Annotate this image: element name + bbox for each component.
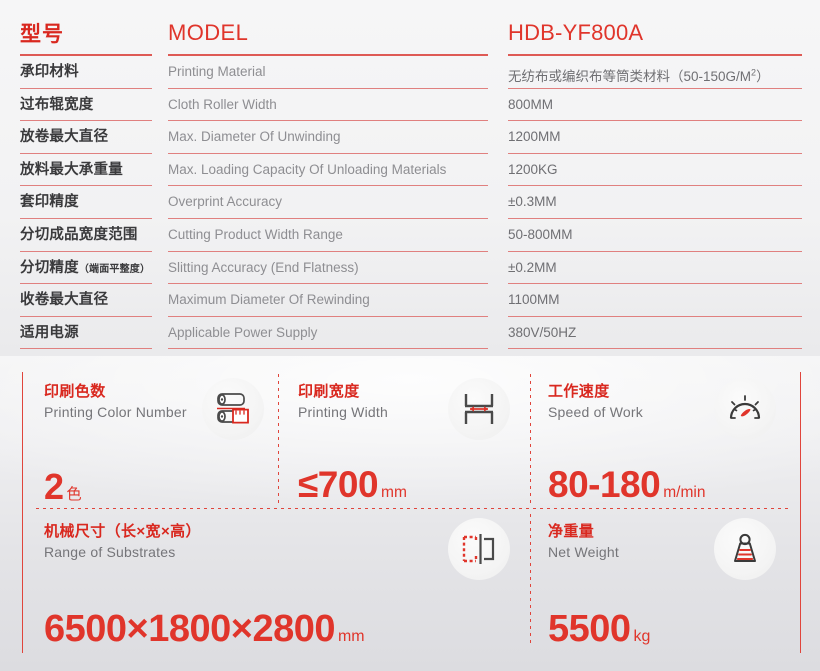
row-label-en: Slitting Accuracy (End Flatness) bbox=[160, 252, 500, 285]
row-label-en: Max. Loading Capacity Of Unloading Mater… bbox=[160, 154, 500, 187]
card-value: 5500kg bbox=[548, 608, 650, 651]
row-rule bbox=[508, 348, 802, 349]
table-row: 过布辊宽度Cloth Roller Width800MM bbox=[0, 89, 820, 122]
row-label-en-text: Max. Diameter Of Unwinding bbox=[168, 129, 341, 144]
card-unit: m/min bbox=[663, 484, 705, 501]
row-value: 1200KG bbox=[500, 154, 820, 187]
table-row: 放料最大承重量Max. Loading Capacity Of Unloadin… bbox=[0, 154, 820, 187]
row-value-text: 1100MM bbox=[508, 292, 560, 307]
card-unit: mm bbox=[381, 484, 407, 501]
speedometer-icon bbox=[714, 378, 776, 440]
table-row: 收卷最大直径Maximum Diameter Of Rewinding1100M… bbox=[0, 284, 820, 317]
row-label-en-text: Cloth Roller Width bbox=[168, 97, 277, 112]
card-unit: mm bbox=[338, 628, 365, 645]
row-label-cn-sub: （端面平整度） bbox=[79, 264, 150, 275]
material-rolls-icon bbox=[202, 378, 264, 440]
row-label-cn-text: 放卷最大直径 bbox=[20, 129, 108, 145]
card-value: ≤700mm bbox=[298, 464, 407, 506]
row-label-en-text: Maximum Diameter Of Rewinding bbox=[168, 292, 370, 307]
table-row: 承印材料Printing Material无纺布或编织布等筒类材料（50-150… bbox=[0, 56, 820, 89]
row-value: 800MM bbox=[500, 89, 820, 122]
row-label-cn-text: 分切成品宽度范围 bbox=[20, 227, 138, 243]
card-value: 6500×1800×2800mm bbox=[44, 608, 365, 651]
card-printing-color-number: 印刷色数 Printing Color Number 2色 bbox=[44, 380, 278, 508]
header-model-value: HDB-YF800A bbox=[508, 20, 643, 46]
dimension-box-icon bbox=[448, 518, 510, 580]
header-cell-model-cn: 型号 bbox=[0, 10, 160, 56]
table-row: 适用电源Applicable Power Supply380V/50HZ bbox=[0, 317, 820, 350]
row-label-cn-text: 收卷最大直径 bbox=[20, 292, 108, 308]
panel-right-border bbox=[800, 372, 801, 653]
row-value: 380V/50HZ bbox=[500, 317, 820, 350]
row-value-text: 1200MM bbox=[508, 129, 561, 144]
row-label-en-text: Printing Material bbox=[168, 64, 266, 79]
card-divider-v3 bbox=[530, 514, 531, 644]
row-label-cn-text: 套印精度 bbox=[20, 194, 79, 210]
row-label-en: Maximum Diameter Of Rewinding bbox=[160, 284, 500, 317]
specification-table: 型号 MODEL HDB-YF800A 承印材料Printing Materia… bbox=[0, 0, 820, 356]
row-label-cn-text: 承印材料 bbox=[20, 64, 79, 80]
card-unit: kg bbox=[634, 628, 651, 645]
weight-icon bbox=[714, 518, 776, 580]
row-label-en: Printing Material bbox=[160, 56, 500, 89]
row-label-cn: 过布辊宽度 bbox=[0, 89, 160, 122]
row-label-cn-text: 适用电源 bbox=[20, 325, 79, 341]
row-label-cn: 收卷最大直径 bbox=[0, 284, 160, 317]
row-label-cn: 放料最大承重量 bbox=[0, 154, 160, 187]
row-rule bbox=[168, 348, 488, 349]
row-value-text: 无纺布或编织布等筒类材料（50-150G/M2） bbox=[508, 69, 770, 84]
row-value-text: 1200KG bbox=[508, 162, 558, 177]
row-value: ±0.3MM bbox=[500, 186, 820, 219]
row-rule bbox=[20, 348, 152, 349]
card-net-weight: 净重量 Net Weight 5500kg bbox=[548, 520, 800, 650]
header-cell-model-value: HDB-YF800A bbox=[500, 10, 820, 56]
row-value-text: 50-800MM bbox=[508, 227, 573, 242]
row-label-cn: 适用电源 bbox=[0, 317, 160, 350]
row-label-en: Applicable Power Supply bbox=[160, 317, 500, 350]
row-value-text: 380V/50HZ bbox=[508, 325, 576, 340]
row-label-cn: 套印精度 bbox=[0, 186, 160, 219]
row-value-text: 800MM bbox=[508, 97, 553, 112]
row-value: 无纺布或编织布等筒类材料（50-150G/M2） bbox=[500, 56, 820, 89]
row-label-en-text: Slitting Accuracy (End Flatness) bbox=[168, 260, 359, 275]
row-value-text: ±0.2MM bbox=[508, 260, 557, 275]
row-value: 1200MM bbox=[500, 121, 820, 154]
row-label-en: Max. Diameter Of Unwinding bbox=[160, 121, 500, 154]
card-value: 2色 bbox=[44, 466, 82, 508]
row-label-cn: 分切成品宽度范围 bbox=[0, 219, 160, 252]
row-value: ±0.2MM bbox=[500, 252, 820, 285]
row-label-en-text: Max. Loading Capacity Of Unloading Mater… bbox=[168, 162, 446, 177]
card-machine-dimensions: 机械尺寸（长×宽×高） Range of Substrates 6500×180… bbox=[44, 520, 530, 650]
card-speed-of-work: 工作速度 Speed of Work 80-180m/min bbox=[548, 380, 800, 508]
row-label-cn: 承印材料 bbox=[0, 56, 160, 89]
header-title-en: MODEL bbox=[168, 20, 248, 46]
table-row: 分切成品宽度范围Cutting Product Width Range50-80… bbox=[0, 219, 820, 252]
card-divider-v1 bbox=[278, 374, 279, 504]
row-label-en: Overprint Accuracy bbox=[160, 186, 500, 219]
header-title-cn: 型号 bbox=[20, 18, 64, 48]
row-value-superscript: 2 bbox=[751, 67, 756, 77]
row-label-en: Cloth Roller Width bbox=[160, 89, 500, 122]
row-label-cn-text: 放料最大承重量 bbox=[20, 162, 123, 178]
row-label-en-text: Applicable Power Supply bbox=[168, 325, 317, 340]
card-unit: 色 bbox=[67, 486, 82, 503]
card-value: 80-180m/min bbox=[548, 464, 706, 506]
table-row: 放卷最大直径Max. Diameter Of Unwinding1200MM bbox=[0, 121, 820, 154]
spec-sheet-page: 型号 MODEL HDB-YF800A 承印材料Printing Materia… bbox=[0, 0, 820, 671]
table-header-row: 型号 MODEL HDB-YF800A bbox=[0, 10, 820, 56]
row-label-cn: 分切精度（端面平整度） bbox=[0, 252, 160, 285]
row-label-en-text: Cutting Product Width Range bbox=[168, 227, 343, 242]
card-divider-v2 bbox=[530, 374, 531, 504]
row-label-cn-text: 分切精度（端面平整度） bbox=[20, 260, 150, 276]
header-cell-model-en: MODEL bbox=[160, 10, 500, 56]
row-label-cn-text: 过布辊宽度 bbox=[20, 97, 94, 113]
row-label-en-text: Overprint Accuracy bbox=[168, 194, 282, 209]
row-value: 1100MM bbox=[500, 284, 820, 317]
card-printing-width: 印刷宽度 Printing Width ≤700mm bbox=[298, 380, 530, 508]
table-row: 套印精度Overprint Accuracy±0.3MM bbox=[0, 186, 820, 219]
card-divider-h2 bbox=[288, 508, 790, 509]
highlight-panel: 印刷色数 Printing Color Number 2色 bbox=[0, 356, 820, 671]
table-row: 分切精度（端面平整度）Slitting Accuracy (End Flatne… bbox=[0, 252, 820, 285]
row-label-cn: 放卷最大直径 bbox=[0, 121, 160, 154]
panel-left-border bbox=[22, 372, 23, 653]
row-label-en: Cutting Product Width Range bbox=[160, 219, 500, 252]
row-value-text: ±0.3MM bbox=[508, 194, 557, 209]
width-measure-icon bbox=[448, 378, 510, 440]
row-value: 50-800MM bbox=[500, 219, 820, 252]
